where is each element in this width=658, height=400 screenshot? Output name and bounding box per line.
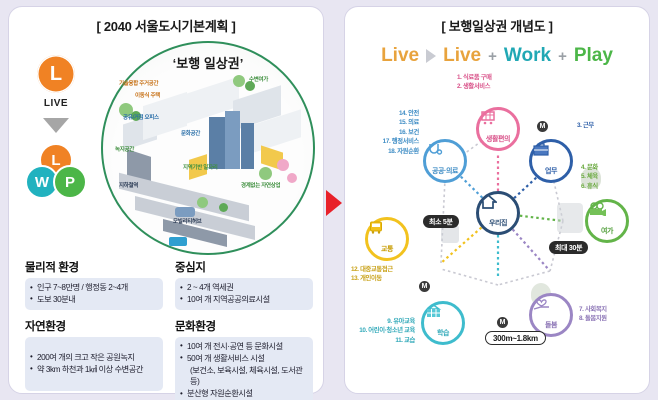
- list-item: 분산형 자원순환시설: [178, 388, 308, 400]
- list-item: 인구 7~8만명 / 행정동 2~4개: [28, 282, 158, 294]
- info-grid: 물리적 환경 인구 7~8만명 / 행정동 2~4개 도보 30분내 중심지 2…: [25, 255, 313, 400]
- illus-label-7: 경계없는 자연상업: [241, 181, 280, 189]
- live-badge-icon: L: [37, 55, 75, 93]
- illus-label-1: 이동식 주택: [135, 91, 160, 99]
- hint-leisure: 4. 문화 5. 체육 6. 휴식: [581, 163, 598, 191]
- metro-marker-icon: M: [419, 281, 430, 292]
- live-badge-label: LIVE: [23, 98, 89, 109]
- hint-line: 4. 문화: [581, 163, 598, 172]
- blossom-tree: [287, 173, 297, 183]
- illustration-center-title: ‘보행 일상권’: [101, 53, 315, 72]
- badge-min-time: 최소 5분: [423, 215, 459, 228]
- tower: [209, 117, 225, 169]
- tower: [241, 123, 254, 169]
- hint-line: 16. 보건: [347, 128, 419, 137]
- illus-label-5: 녹지공간: [115, 145, 134, 153]
- right-panel: [ 보행일상권 개념도 ] Live Live + Work + Play: [344, 6, 650, 394]
- tree: [219, 203, 228, 212]
- node-work[interactable]: 업무: [529, 139, 573, 183]
- tower: [225, 111, 240, 169]
- plus-sign: +: [488, 48, 497, 65]
- triangle-right-icon: [426, 49, 436, 63]
- section-box: 10여 개 전시·공연 등 문화시설 50여 개 생활서비스 시설 (보건소, …: [175, 337, 313, 400]
- hint-line: 13. 개인이동: [351, 274, 393, 283]
- bus: [169, 237, 187, 246]
- section-title: 자연환경: [25, 318, 163, 334]
- tree: [233, 75, 245, 87]
- walkable-district-illustration: ‘보행 일상권’ 기술융합 주거공간 이동식 주택 수변여가 공유/거점 오피스…: [101, 41, 315, 255]
- list-item: 200여 개의 크고 작은 공원녹지: [28, 352, 143, 364]
- tree: [259, 167, 272, 180]
- node-leisure-label: 여가: [588, 226, 626, 236]
- right-panel-title: [ 보행일상권 개념도 ]: [345, 16, 649, 35]
- hint-line: 1. 식료품 구매: [457, 73, 492, 82]
- list-item: 약 3km 하천과 1㎢ 이상 수변공간: [28, 364, 143, 376]
- illus-label-6: 지역기반 일자리: [183, 163, 218, 171]
- node-medical[interactable]: 공공·의료: [423, 139, 467, 183]
- hint-line: 15. 의료: [347, 118, 419, 127]
- section-title: 중심지: [175, 259, 313, 275]
- hint-line: 5. 체육: [581, 172, 598, 181]
- section-box: 2 ~ 4개 역세권 10여 개 지역공공의료시설: [175, 278, 313, 310]
- hint-line: 14. 안전: [347, 109, 419, 118]
- hint-line: 10. 어린이·청소년 교육: [347, 326, 415, 335]
- infographic-root: [ 2040 서울도시기본계획 ] L LIVE L W P: [0, 0, 658, 400]
- hint-line: 11. 교습: [347, 336, 415, 345]
- red-triangle-right-icon: [326, 190, 342, 216]
- illus-label-8: 지하철역: [119, 181, 138, 189]
- list-item: 10여 개 지역공공의료시설: [178, 294, 308, 306]
- hint-line: 9. 유아교육: [347, 317, 415, 326]
- node-transport[interactable]: 교통: [365, 217, 409, 261]
- building-icon: [557, 203, 583, 233]
- illus-label-0: 기술융합 주거공간: [119, 79, 158, 87]
- transition-from-label: Live: [381, 45, 419, 67]
- list-item: (보건소, 보육시설, 체육시설, 도서관 등): [178, 365, 308, 389]
- node-home-label: 우리집: [479, 218, 517, 228]
- list-item: 10여 개 전시·공연 등 문화시설: [178, 341, 308, 353]
- list-item: 2 ~ 4개 역세권: [178, 282, 308, 294]
- left-panel-title: [ 2040 서울도시기본계획 ]: [9, 16, 323, 35]
- lwp-cluster-icon: L W P: [25, 143, 87, 201]
- hint-transport: 12. 대중교통접근 13. 개인이동: [351, 265, 393, 284]
- hint-medical: 14. 안전 15. 의료 16. 보건 17. 행정서비스 18. 자원순환: [347, 109, 419, 156]
- metro-marker-icon: M: [497, 317, 508, 328]
- section-title: 물리적 환경: [25, 259, 163, 275]
- illus-label-3: 공유/거점 오피스: [123, 113, 159, 121]
- section-title: 문화환경: [175, 318, 313, 334]
- illus-label-9: 모빌리티허브: [173, 217, 202, 225]
- list-item: 도보 30분내: [28, 294, 158, 306]
- node-convenience[interactable]: 생활편의: [476, 107, 520, 151]
- transition-live-label: Live: [443, 45, 481, 67]
- hint-learning: 9. 유아교육 10. 어린이·청소년 교육 11. 교습: [347, 317, 415, 345]
- node-home[interactable]: 우리집: [476, 191, 520, 235]
- metro-marker-icon: M: [537, 121, 548, 132]
- hint-line: 7. 사회복지: [579, 305, 607, 314]
- left-panel: [ 2040 서울도시기본계획 ] L LIVE L W P: [8, 6, 324, 394]
- hint-line: 18. 자원순환: [347, 147, 419, 156]
- lwp-play-lobe: P: [53, 165, 87, 199]
- list-item: 50여 개 생활서비스 시설: [178, 353, 308, 365]
- hint-line: 17. 행정서비스: [347, 137, 419, 146]
- mobility-hub: [175, 207, 195, 217]
- node-work-label: 업무: [532, 166, 570, 176]
- badge-distance: 300m~1.8km: [485, 331, 546, 345]
- node-learning[interactable]: 학습: [421, 301, 465, 345]
- illus-label-2: 수변여가: [249, 75, 268, 83]
- illus-label-4: 문화공간: [181, 129, 200, 137]
- section-box: 200여 개의 크고 작은 공원녹지 약 3km 하천과 1㎢ 이상 수변공간: [25, 337, 163, 391]
- section-center: 중심지 2 ~ 4개 역세권 10여 개 지역공공의료시설: [175, 255, 313, 310]
- hint-care: 7. 사회복지 8. 돌봄지원: [579, 305, 607, 324]
- transition-play-label: Play: [574, 45, 613, 67]
- blossom-tree: [277, 159, 289, 171]
- node-care-label: 돌봄: [532, 320, 570, 330]
- hint-line: 8. 돌봄지원: [579, 314, 607, 323]
- hint-line: 3. 근무: [577, 121, 594, 130]
- hint-convenience: 1. 식료품 구매 2. 생활서비스: [457, 73, 492, 92]
- node-leisure[interactable]: 여가: [585, 199, 629, 243]
- section-culture: 문화환경 10여 개 전시·공연 등 문화시설 50여 개 생활서비스 시설 (…: [175, 314, 313, 400]
- live-to-lwp-transition: Live Live + Work + Play: [345, 45, 649, 67]
- section-box: 인구 7~8만명 / 행정동 2~4개 도보 30분내: [25, 278, 163, 310]
- plus-sign: +: [558, 48, 567, 65]
- node-convenience-label: 생활편의: [479, 134, 517, 144]
- hub-diagram: 우리집 생활편의 1. 식료품 구매 2. 생활서비스 공공·의료: [345, 73, 651, 393]
- hint-line: 2. 생활서비스: [457, 82, 492, 91]
- node-learning-label: 학습: [424, 328, 462, 338]
- section-nature: 자연환경 200여 개의 크고 작은 공원녹지 약 3km 하천과 1㎢ 이상 …: [25, 314, 163, 400]
- badge-max-time: 최대 30분: [549, 241, 588, 254]
- down-arrow-icon: [43, 118, 69, 133]
- hint-line: 12. 대중교통접근: [351, 265, 393, 274]
- node-transport-label: 교통: [368, 244, 406, 254]
- section-physical: 물리적 환경 인구 7~8만명 / 행정동 2~4개 도보 30분내: [25, 255, 163, 310]
- transition-work-label: Work: [504, 45, 551, 67]
- node-medical-label: 공공·의료: [426, 166, 464, 176]
- hint-work: 3. 근무: [577, 121, 594, 130]
- tree: [197, 197, 208, 208]
- live-column: L LIVE L W P: [23, 55, 89, 201]
- hint-line: 6. 휴식: [581, 182, 598, 191]
